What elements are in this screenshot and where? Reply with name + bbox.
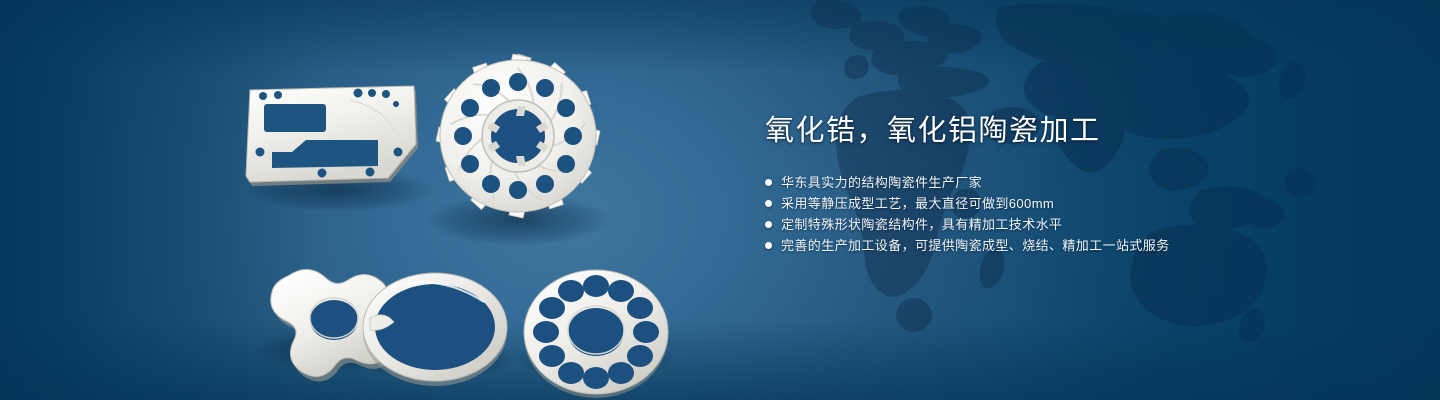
list-item: 华东具实力的结构陶瓷件生产厂家 [765,172,1385,193]
ceramic-machined-plate [246,86,418,186]
bullet-dot-icon [765,200,772,207]
list-item-label: 采用等静压成型工艺，最大直径可做到600mm [781,193,1054,214]
bullet-dot-icon [765,221,772,228]
list-item-label: 定制特殊形状陶瓷结构件，具有精加工技术水平 [781,214,1062,235]
banner-text-block: 氧化锆，氧化铝陶瓷加工 华东具实力的结构陶瓷件生产厂家 采用等静压成型工艺，最大… [765,112,1385,272]
ceramic-perforated-disc [524,270,668,398]
ceramic-thin-ring [363,273,507,386]
page-title: 氧化锆，氧化铝陶瓷加工 [765,112,1385,150]
product-photo-group [230,40,710,380]
list-item-label: 华东具实力的结构陶瓷件生产厂家 [781,172,982,193]
list-item: 完善的生产加工设备，可提供陶瓷成型、烧结、精加工一站式服务 [765,235,1385,256]
ceramic-products-banner: 氧化锆，氧化铝陶瓷加工 华东具实力的结构陶瓷件生产厂家 采用等静压成型工艺，最大… [0,0,1440,400]
ceramic-bladed-impeller [436,54,600,218]
list-item: 定制特殊形状陶瓷结构件，具有精加工技术水平 [765,214,1385,235]
bullet-dot-icon [765,179,772,186]
list-item-label: 完善的生产加工设备，可提供陶瓷成型、烧结、精加工一站式服务 [781,235,1170,256]
bullet-dot-icon [765,242,772,249]
feature-list: 华东具实力的结构陶瓷件生产厂家 采用等静压成型工艺，最大直径可做到600mm 定… [765,172,1385,256]
list-item: 采用等静压成型工艺，最大直径可做到600mm [765,193,1385,214]
